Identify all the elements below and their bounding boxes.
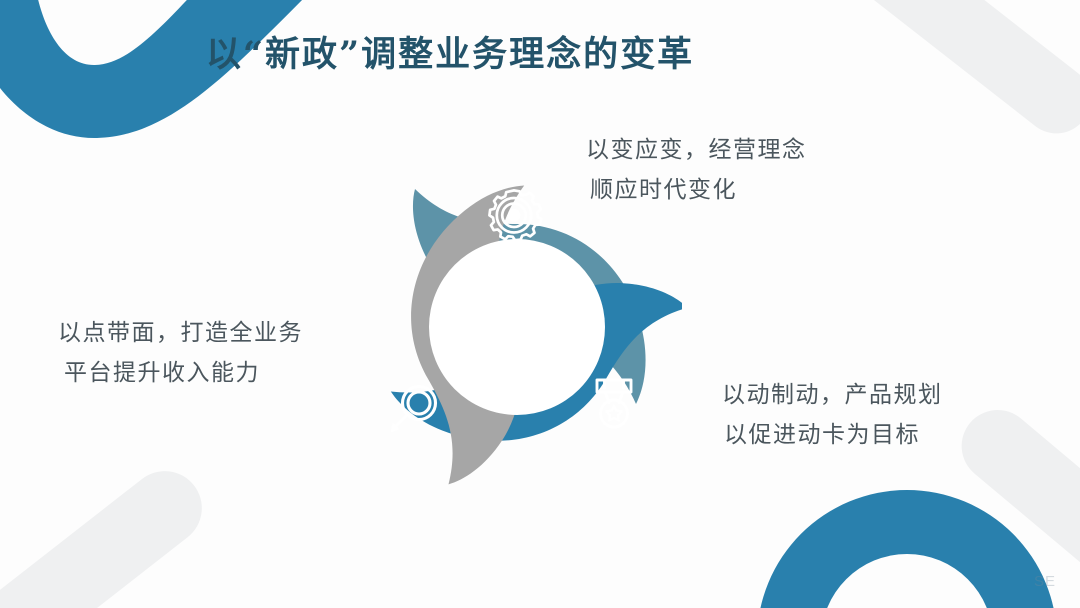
callout-magnifier: 以点带面，打造全业务 平台提升收入能力 bbox=[58, 314, 303, 393]
callout-medal-line-2: 以促进动卡为目标 bbox=[722, 416, 943, 456]
callout-gear-line-2: 顺应时代变化 bbox=[586, 171, 807, 211]
medal-icon bbox=[597, 380, 631, 427]
callout-gear-line-1: 以变应变，经营理念 bbox=[586, 131, 807, 171]
watermark: SE bbox=[1034, 573, 1056, 590]
slide-canvas: 以“新政”调整业务理念的变革 bbox=[0, 0, 1080, 608]
triskelion-core bbox=[429, 239, 605, 415]
capsule-bottom-left-shape bbox=[0, 456, 217, 608]
callout-magnifier-line-2: 平台提升收入能力 bbox=[58, 354, 303, 394]
triskelion-svg bbox=[352, 162, 682, 492]
triskelion-diagram bbox=[352, 162, 682, 492]
ring-bottom-right-shape bbox=[757, 490, 1057, 608]
callout-gear: 以变应变，经营理念 顺应时代变化 bbox=[586, 131, 807, 210]
callout-medal-line-1: 以动制动，产品规划 bbox=[722, 376, 943, 416]
callout-medal: 以动制动，产品规划 以促进动卡为目标 bbox=[722, 376, 943, 455]
page-title: 以“新政”调整业务理念的变革 bbox=[0, 26, 900, 77]
callout-magnifier-line-1: 以点带面，打造全业务 bbox=[58, 314, 303, 354]
